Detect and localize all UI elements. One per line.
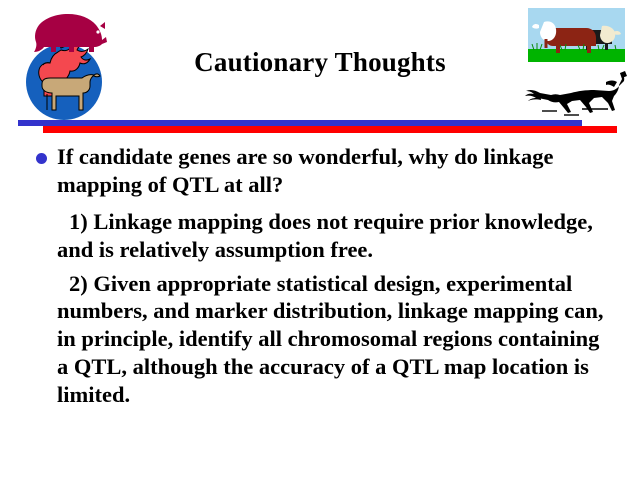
slide-canvas: Cautionary Thoughts (0, 0, 640, 480)
slide-body: If candidate genes are so wonderful, why… (32, 143, 616, 415)
page-title: Cautionary Thoughts (130, 48, 510, 76)
list-item-label: 2) Given appropriate statistical design,… (57, 271, 604, 408)
livestock-emblem-icon (14, 4, 114, 122)
divider-rule-red (43, 126, 617, 133)
galloping-horse-silhouette-icon (524, 70, 628, 116)
list-item-label: If candidate genes are so wonderful, why… (57, 144, 554, 197)
list-item: 2) Given appropriate statistical design,… (32, 270, 616, 409)
list-item: 1) Linkage mapping does not require prio… (32, 208, 616, 264)
bullet-dot-icon (36, 153, 47, 164)
cattle-pasture-photo (528, 8, 625, 62)
list-item-label: 1) Linkage mapping does not require prio… (57, 209, 593, 262)
list-item: If candidate genes are so wonderful, why… (32, 143, 616, 199)
